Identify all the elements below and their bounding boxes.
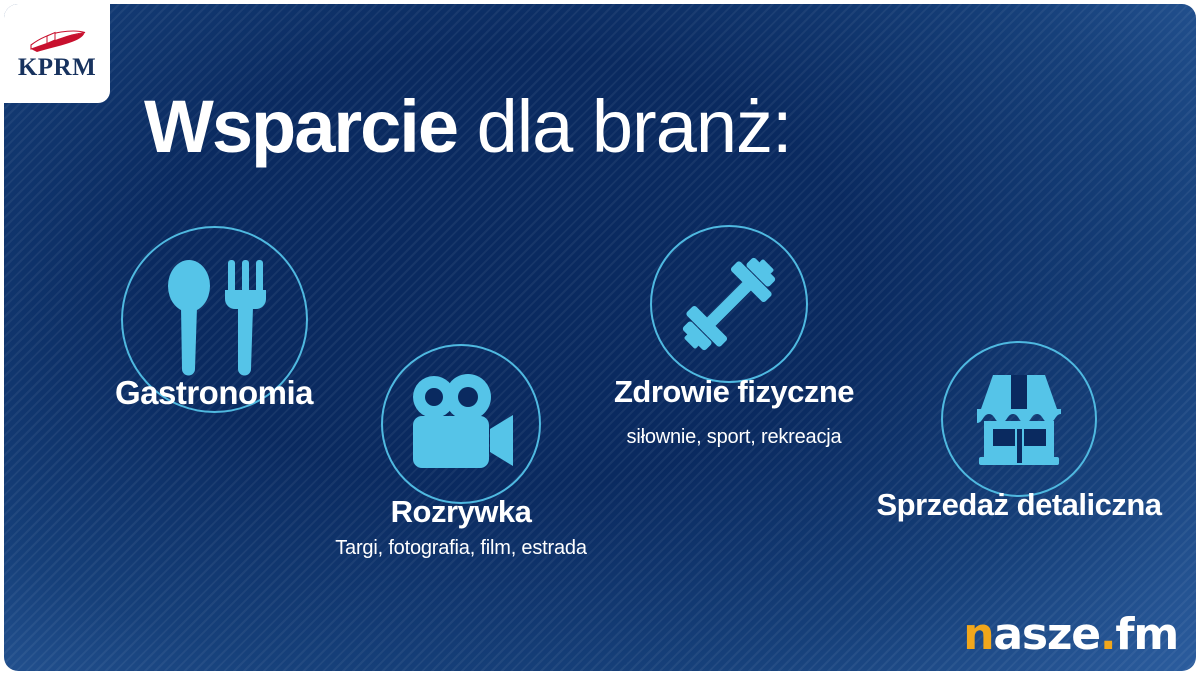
movie-camera-icon [381,344,541,504]
sector-label-rozrywka: Rozrywka [281,496,641,528]
logo-part-asze: asze [993,609,1100,660]
sector-sublabel-zdrowie-fizyczne: siłownie, sport, rekreacja [544,426,924,449]
kprm-wordmark: KPRM [18,55,96,80]
logo-part-fm: fm [1115,609,1178,660]
sector-label-sprzedaz-detaliczna: Sprzedaż detaliczna [869,488,1169,523]
dumbbell-icon [650,225,808,383]
page-title: Wsparcie dla branż: [144,90,792,164]
logo-part-n: n [963,609,993,660]
nasze-fm-logo: nasze.fm [963,613,1178,657]
polish-flag-emblem-icon [25,28,89,54]
logo-dot: . [1100,609,1116,660]
sector-label-zdrowie-fizyczne: Zdrowie fizyczne [544,376,924,408]
page-title-emphasis: Wsparcie [144,85,457,168]
kprm-logo: KPRM [4,4,110,103]
sector-label-gastronomia: Gastronomia [4,376,424,410]
sector-sublabel-rozrywka: Targi, fotografia, film, estrada [261,537,661,560]
page-title-rest: dla branż: [457,85,792,168]
slide-content: KPRM Wsparcie dla branż: [4,4,1196,671]
infographic-slide: KPRM Wsparcie dla branż: [0,0,1200,675]
slide-card: KPRM Wsparcie dla branż: [4,4,1196,671]
storefront-icon [941,341,1097,497]
